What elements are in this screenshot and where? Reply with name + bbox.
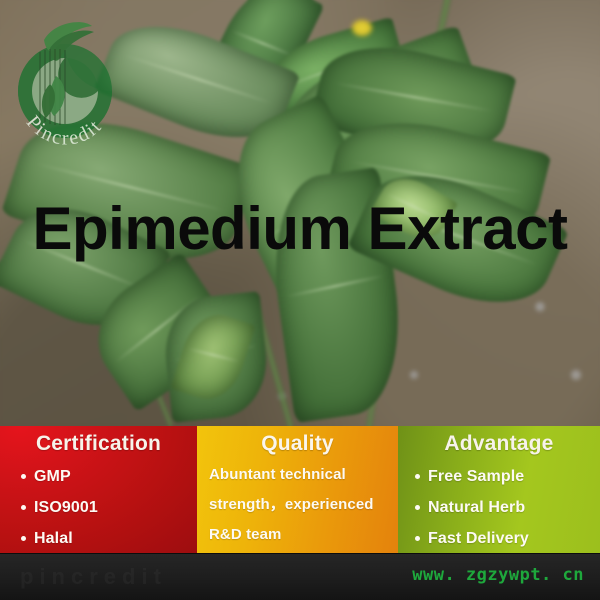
list-item: Free Sample bbox=[428, 461, 600, 492]
description-line: strength，experienced bbox=[209, 490, 390, 520]
list-item-label: Halal bbox=[34, 530, 73, 547]
panel-advantage-title: Advantage bbox=[398, 431, 600, 457]
list-item-label: Natural Herb bbox=[428, 499, 525, 516]
panel-quality: Quality Abuntant technical strength，expe… bbox=[197, 426, 398, 553]
list-item-label: GMP bbox=[34, 468, 71, 485]
list-item: Fast Delivery bbox=[428, 523, 600, 553]
bullet-icon bbox=[415, 536, 420, 541]
plant-photo-background: Pincredit Epimedium Extract bbox=[0, 0, 600, 426]
bullet-icon bbox=[21, 505, 26, 510]
panel-quality-description: Abuntant technical strength，experienced … bbox=[197, 460, 398, 550]
description-line: Abuntant technical bbox=[209, 460, 390, 490]
bullet-icon bbox=[415, 474, 420, 479]
list-item: Halal bbox=[34, 523, 197, 553]
panel-advantage-list: Free Sample Natural Herb Fast Delivery bbox=[398, 461, 600, 553]
yellow-petal-speck bbox=[352, 20, 372, 36]
bullet-icon bbox=[21, 536, 26, 541]
list-item: ISO9001 bbox=[34, 492, 197, 523]
panel-quality-title: Quality bbox=[197, 431, 398, 457]
website-url[interactable]: www. zgzywpt. cn bbox=[412, 565, 584, 585]
list-item: Natural Herb bbox=[428, 492, 600, 523]
pincredit-logo: Pincredit bbox=[6, 18, 124, 166]
bullet-icon bbox=[21, 474, 26, 479]
description-line: R&D team bbox=[209, 520, 390, 550]
list-item-label: Free Sample bbox=[428, 468, 524, 485]
panel-certification: Certification GMP ISO9001 Halal bbox=[0, 426, 197, 553]
footer-watermark: pincredit bbox=[20, 564, 167, 590]
list-item-label: Fast Delivery bbox=[428, 530, 529, 547]
panel-certification-list: GMP ISO9001 Halal bbox=[0, 461, 197, 553]
footer-bar: pincredit www. zgzywpt. cn bbox=[0, 553, 600, 600]
panel-certification-title: Certification bbox=[0, 431, 197, 457]
page-title: Epimedium Extract bbox=[0, 196, 600, 262]
list-item-label: ISO9001 bbox=[34, 499, 98, 516]
feature-panels: Certification GMP ISO9001 Halal Quality … bbox=[0, 426, 600, 553]
product-banner: Pincredit Epimedium Extract Certificatio… bbox=[0, 0, 600, 600]
panel-advantage: Advantage Free Sample Natural Herb Fast … bbox=[398, 426, 600, 553]
bullet-icon bbox=[415, 505, 420, 510]
list-item: GMP bbox=[34, 461, 197, 492]
